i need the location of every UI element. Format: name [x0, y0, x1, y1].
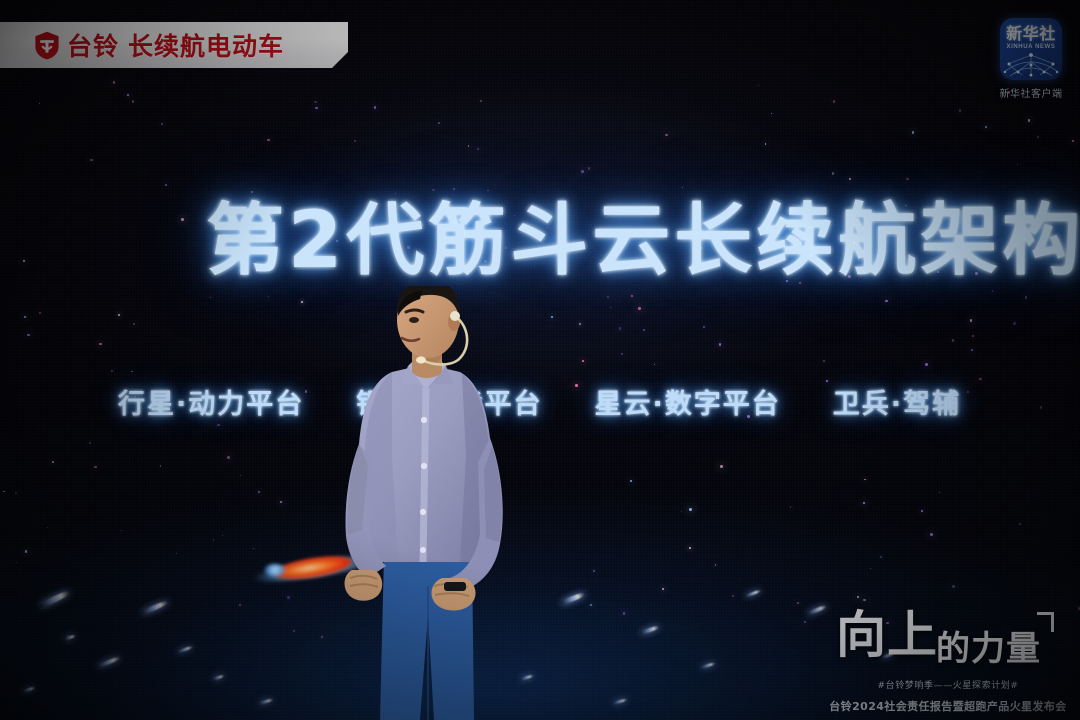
presenter-figure: [322, 286, 534, 720]
event-watermark: 向上 的力量 #台铃梦响季——火星探索计划# 台铃2024社会责任报告暨超跑产品…: [824, 610, 1072, 714]
led-headline: 第2代筋斗云长续航架构: [206, 178, 1080, 290]
decorative-bracket-icon: [1037, 612, 1054, 632]
event-title-block: 向上 的力量: [824, 610, 1072, 680]
xinhua-name-cn: 新华社: [1000, 26, 1062, 42]
xinhua-caption: 新华社客户端: [992, 85, 1070, 100]
event-title-small: 的力量: [936, 632, 1041, 666]
event-title-large: 向上: [836, 610, 938, 660]
sponsor-brand: 台铃: [67, 32, 119, 61]
sponsor-banner-text: 台铃长续航电动车: [67, 27, 284, 63]
platform-label-nebula: 星云·数字平台: [595, 382, 781, 421]
event-footer: 台铃2024社会责任报告暨超跑产品火星发布会: [824, 698, 1072, 714]
sponsor-banner: 台铃长续航电动车: [0, 22, 348, 68]
platform-label-row: 行星·动力平台 银河·智能平台 星云·数字平台 卫兵·驾辅: [118, 382, 961, 421]
globe-network-graphic: [1000, 48, 1062, 78]
presentation-stage-photo: 第2代筋斗云长续航架构 行星·动力平台 银河·智能平台 星云·数字平台 卫兵·驾…: [0, 0, 1080, 720]
xinhua-news-globe-icon: 新华社 XINHUA NEWS: [1000, 18, 1062, 80]
comet-head: [264, 564, 286, 576]
platform-label-planet: 行星·动力平台: [118, 382, 304, 421]
shield-logo-icon: [34, 31, 60, 60]
platform-label-guard: 卫兵·驾辅: [833, 382, 961, 421]
xinhua-news-watermark: 新华社 XINHUA NEWS 新华社客户端: [992, 18, 1070, 100]
sponsor-tagline: 长续航电动车: [128, 32, 284, 61]
